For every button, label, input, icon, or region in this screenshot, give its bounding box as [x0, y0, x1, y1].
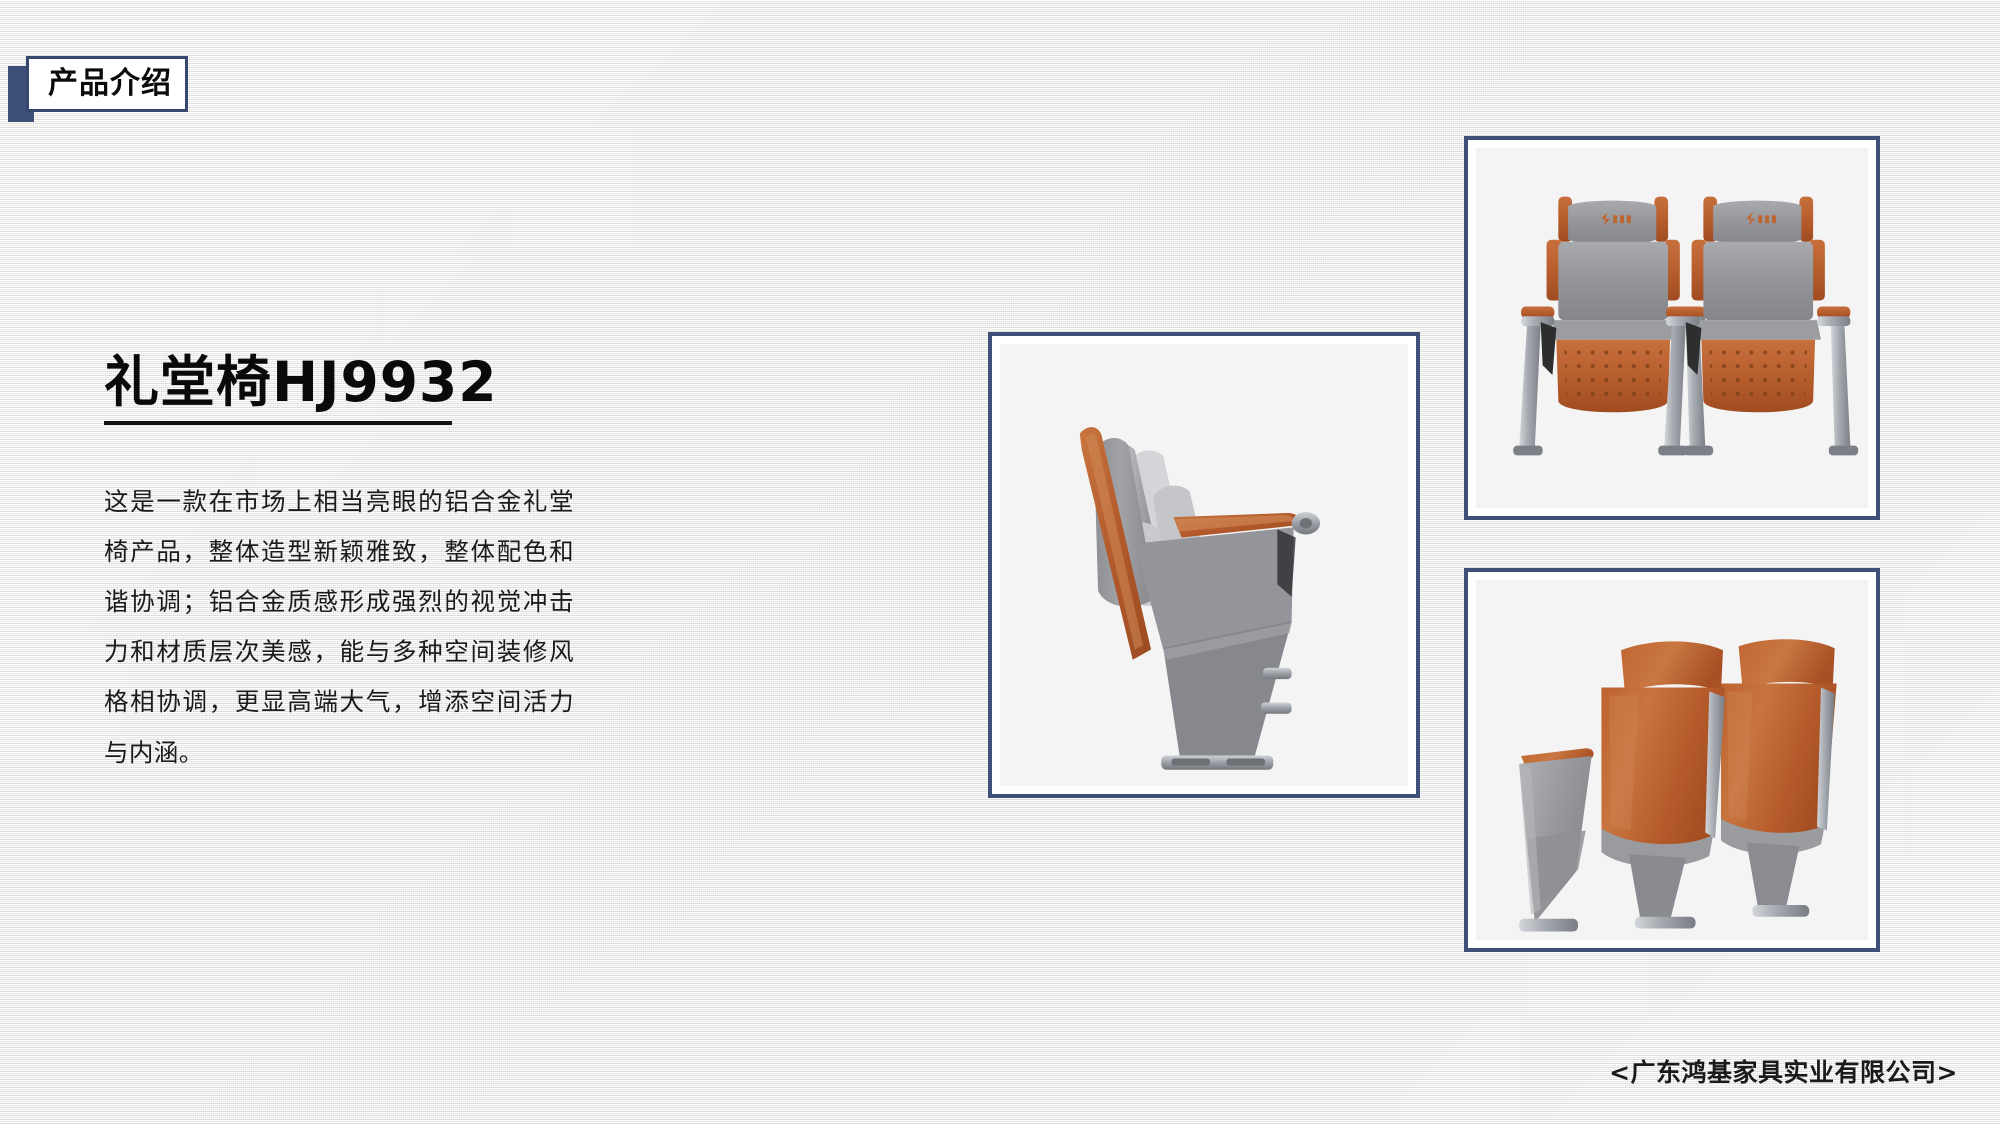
badge-box: 产品介绍: [26, 56, 188, 112]
front-view-illustration: [1476, 148, 1868, 508]
rear-view-illustration: [1476, 580, 1868, 940]
product-text-column: 礼堂椅HJ9932 这是一款在市场上相当亮眼的铝合金礼堂椅产品，整体造型新颖雅致…: [104, 352, 724, 778]
photo-side-view: [1000, 344, 1408, 786]
footer-company: <广东鸿基家具实业有限公司>: [1609, 1053, 1958, 1089]
photo-rear-view: [1476, 580, 1868, 940]
photo-front-view: [1476, 148, 1868, 508]
photo-frame-front-view[interactable]: [1464, 136, 1880, 520]
page-title: 礼堂椅HJ9932: [104, 352, 724, 413]
title-underline: [104, 421, 452, 425]
product-description: 这是一款在市场上相当亮眼的铝合金礼堂椅产品，整体造型新颖雅致，整体配色和谐协调；…: [104, 477, 574, 778]
section-header-badge: 产品介绍: [8, 56, 188, 122]
slide-canvas: 产品介绍 礼堂椅HJ9932 这是一款在市场上相当亮眼的铝合金礼堂椅产品，整体造…: [0, 0, 2000, 1125]
side-view-illustration: [1000, 344, 1408, 786]
badge-label: 产品介绍: [42, 69, 172, 99]
photo-frame-side-view[interactable]: [988, 332, 1420, 798]
photo-frame-rear-view[interactable]: [1464, 568, 1880, 952]
